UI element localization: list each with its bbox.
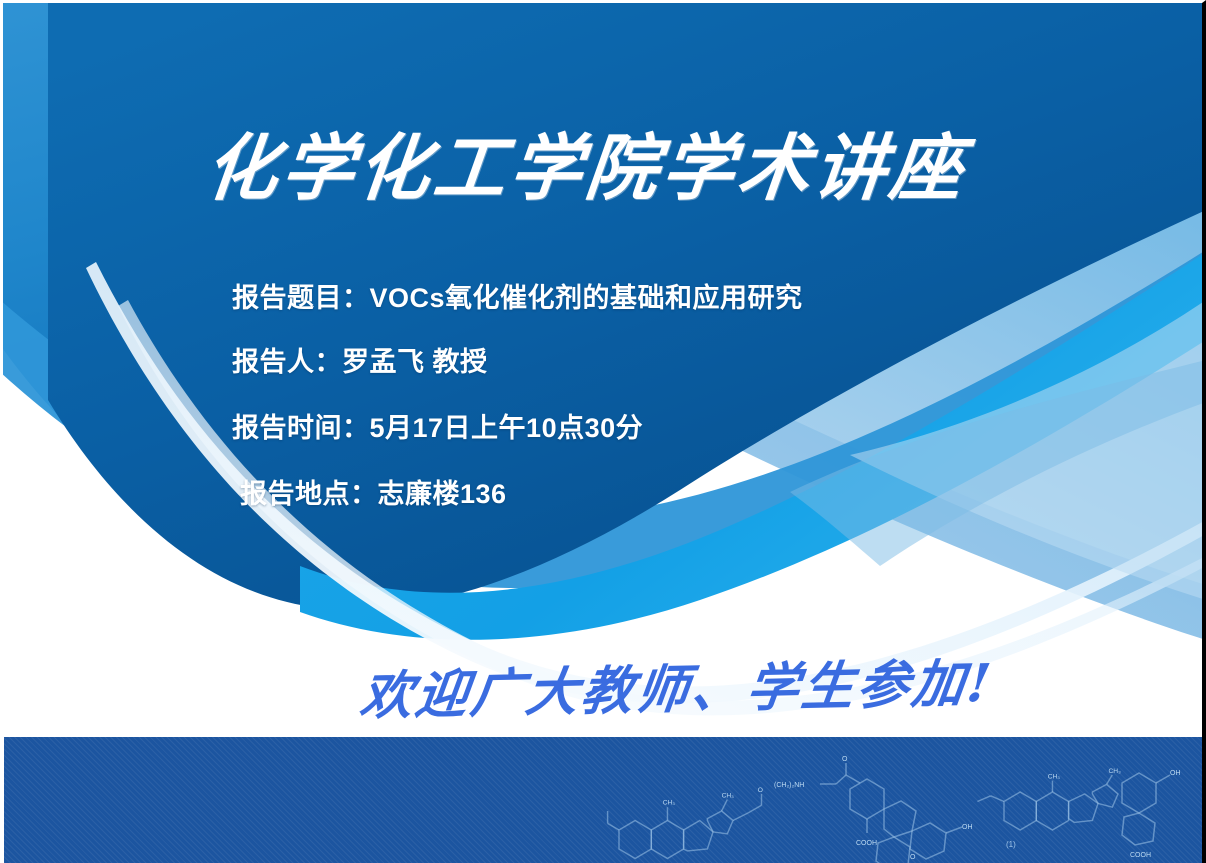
svg-text:COOH: COOH	[1130, 852, 1151, 859]
svg-text:OH: OH	[1170, 770, 1181, 777]
session-speaker: 报告人：罗孟飞 教授	[232, 340, 488, 379]
svg-text:CH₃: CH₃	[1048, 774, 1061, 781]
svg-text:CH₃: CH₃	[722, 793, 735, 800]
svg-text:COOH: COOH	[856, 840, 877, 847]
session-time: 报告时间：5月17日上午10点30分	[232, 406, 643, 445]
chemistry-footer-band: CH₃ CH₃ O (CH₂)₂NH O	[4, 737, 1202, 863]
session-venue: 报告地点：志廉楼136	[240, 472, 507, 511]
seminar-poster: 化学化工学院学术讲座 报告题目：VOCs氧化催化剂的基础和应用研究 报告人：罗孟…	[0, 0, 1206, 863]
svg-text:OH: OH	[962, 824, 973, 831]
page-title: 化学化工学院学术讲座	[202, 132, 970, 204]
svg-text:O: O	[910, 854, 916, 861]
svg-text:CH₃: CH₃	[663, 799, 676, 806]
svg-text:CH₃: CH₃	[1109, 768, 1122, 775]
welcome-message: 欢迎广大教师、学生参加!	[357, 642, 948, 729]
svg-text:(CH₂)₂NH: (CH₂)₂NH	[774, 782, 804, 789]
svg-text:O: O	[842, 756, 848, 763]
session-topic: 报告题目：VOCs氧化催化剂的基础和应用研究	[232, 276, 803, 315]
svg-text:O: O	[758, 787, 763, 794]
chemical-structure-watermark: CH₃ CH₃ O (CH₂)₂NH O	[4, 737, 1202, 863]
svg-text:(1): (1)	[1006, 840, 1016, 849]
